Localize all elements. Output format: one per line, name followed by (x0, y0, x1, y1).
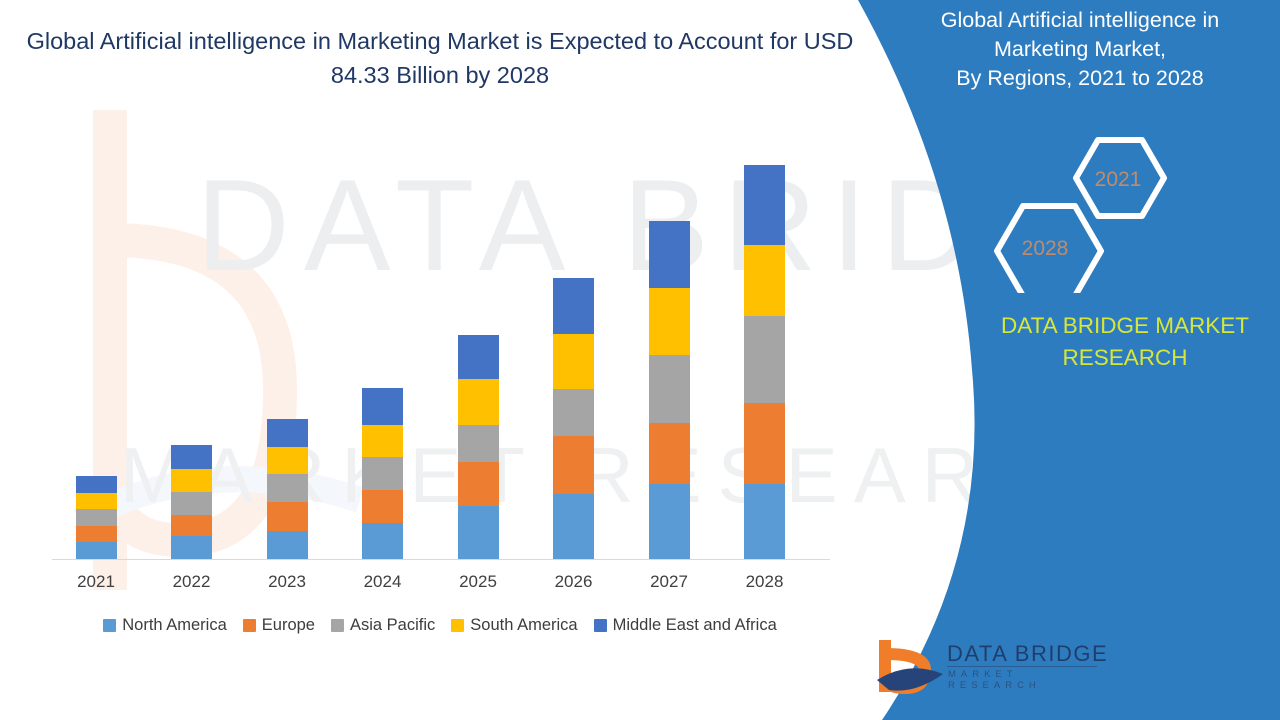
hexagon-badges: 2021 2028 (975, 128, 1195, 293)
bar-segment (362, 490, 403, 523)
bar-segment (76, 493, 117, 510)
bar-segment (76, 542, 117, 559)
bar-segment (553, 389, 594, 436)
bar-segment (649, 288, 690, 355)
legend-label: Asia Pacific (350, 616, 435, 635)
bar-2026 (553, 278, 594, 559)
x-axis-label: 2024 (338, 572, 428, 592)
bar-segment (744, 316, 785, 403)
bar-2028 (744, 165, 785, 559)
brand-line: DATA BRIDGE MARKET (960, 310, 1280, 342)
bar-segment (76, 526, 117, 542)
bar-2021 (76, 476, 117, 559)
legend-swatch-icon (594, 619, 607, 632)
bar-segment (553, 494, 594, 559)
legend-label: Middle East and Africa (613, 616, 777, 635)
bar-segment (267, 419, 308, 447)
bar-segment (362, 388, 403, 425)
x-axis-label: 2025 (433, 572, 523, 592)
bar-segment (553, 278, 594, 335)
legend-label: South America (470, 616, 577, 635)
bar-segment (553, 436, 594, 494)
legend-swatch-icon (103, 619, 116, 632)
bar-segment (458, 335, 499, 379)
x-axis-label: 2021 (51, 572, 141, 592)
bar-segment (458, 379, 499, 425)
legend-item[interactable]: Middle East and Africa (594, 616, 777, 635)
bar-segment (649, 423, 690, 485)
stacked-bar-chart (40, 150, 830, 562)
legend-swatch-icon (331, 619, 344, 632)
x-axis-line (52, 559, 830, 560)
infographic-canvas: DATA BRIDGE MARKET RESEARCH Global Artif… (0, 0, 1280, 720)
bar-segment (458, 462, 499, 505)
bar-2027 (649, 221, 690, 559)
bar-2025 (458, 335, 499, 559)
bar-segment (362, 523, 403, 559)
x-axis-label: 2028 (720, 572, 810, 592)
company-logo: DATA BRIDGE MARKET RESEARCH (875, 636, 1115, 702)
bar-segment (76, 476, 117, 493)
bar-segment (553, 334, 594, 389)
hex-label-start: 2021 (1078, 168, 1158, 192)
bar-segment (267, 502, 308, 530)
bar-segment (267, 447, 308, 475)
bar-segment (744, 245, 785, 315)
panel-title-line: Global Artificial intelligence in Market… (900, 6, 1260, 64)
bar-segment (171, 515, 212, 536)
bar-segment (267, 474, 308, 502)
logo-subtitle: MARKET RESEARCH (948, 669, 1115, 691)
bar-segment (649, 355, 690, 422)
bar-segment (744, 165, 785, 245)
legend-label: North America (122, 616, 227, 635)
brand-name: DATA BRIDGE MARKETRESEARCH (960, 310, 1280, 374)
bar-segment (76, 509, 117, 526)
x-axis-label: 2026 (529, 572, 619, 592)
bar-segment (171, 469, 212, 492)
hexagon-outline-icon (975, 128, 1195, 293)
panel-title-line: By Regions, 2021 to 2028 (900, 64, 1260, 93)
page-title: Global Artificial intelligence in Market… (20, 24, 860, 92)
legend-item[interactable]: Europe (243, 616, 315, 635)
x-axis-label: 2022 (147, 572, 237, 592)
x-axis-label: 2027 (624, 572, 714, 592)
bar-2023 (267, 419, 308, 559)
panel-title: Global Artificial intelligence in Market… (900, 6, 1260, 93)
legend-label: Europe (262, 616, 315, 635)
legend-item[interactable]: South America (451, 616, 577, 635)
logo-wordmark: DATA BRIDGE (947, 641, 1108, 667)
bar-segment (171, 536, 212, 559)
x-axis-tick-labels: 20212022202320242025202620272028 (40, 572, 830, 600)
bar-segment (171, 492, 212, 515)
chart-plot-area (40, 150, 830, 559)
bar-2022 (171, 445, 212, 559)
bar-segment (649, 221, 690, 288)
bar-segment (458, 425, 499, 462)
bar-segment (362, 425, 403, 458)
bar-segment (744, 403, 785, 484)
bar-segment (649, 484, 690, 559)
chart-legend: North AmericaEuropeAsia PacificSouth Ame… (40, 616, 840, 635)
hex-label-end: 2028 (1005, 237, 1085, 261)
x-axis-label: 2023 (242, 572, 332, 592)
legend-swatch-icon (243, 619, 256, 632)
bar-segment (744, 484, 785, 560)
bar-segment (362, 457, 403, 490)
logo-divider (947, 666, 1097, 667)
legend-swatch-icon (451, 619, 464, 632)
bar-segment (458, 506, 499, 559)
bar-segment (171, 445, 212, 468)
bar-2024 (362, 388, 403, 559)
bar-segment (267, 531, 308, 559)
brand-line: RESEARCH (960, 342, 1280, 374)
logo-mark-icon (875, 636, 945, 698)
legend-item[interactable]: Asia Pacific (331, 616, 435, 635)
legend-item[interactable]: North America (103, 616, 227, 635)
